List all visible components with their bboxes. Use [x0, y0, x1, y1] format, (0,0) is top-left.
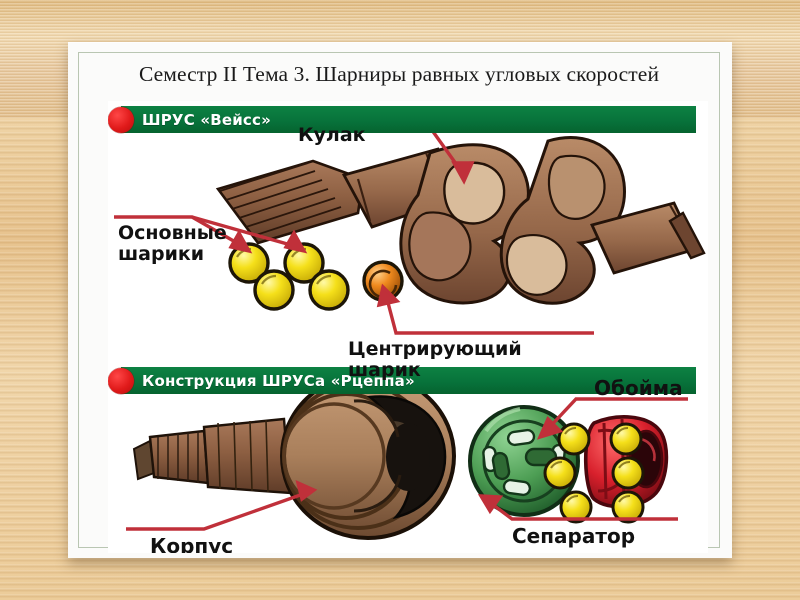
red-circle-icon [108, 368, 134, 394]
diagram-image-area: ШРУС «Вейсс» Конструкция ШРУСа «Рцеппа» … [108, 101, 708, 553]
callout-line: Кулак [298, 125, 366, 146]
callout-line: Обойма [594, 377, 683, 399]
callout-label-main-balls: Основные шарики [118, 223, 227, 266]
slide-stage: Семестр II Тема 3. Шарниры равных угловы… [0, 0, 800, 600]
callout-line: Центрирующий [348, 339, 522, 360]
section-banner-weiss-label: ШРУС «Вейсс» [142, 111, 271, 129]
callout-line: Корпус [150, 535, 233, 553]
callout-label-housing: Корпус [150, 535, 233, 553]
callout-label-center-ball: Центрирующий шарик [348, 339, 522, 382]
section-banner-weiss: ШРУС «Вейсс» [121, 106, 696, 133]
cv-joint-artwork [108, 101, 708, 553]
callout-label-kulak: Кулак [298, 125, 366, 146]
callout-line: Основные [118, 223, 227, 244]
page-title: Семестр II Тема 3. Шарниры равных угловы… [78, 62, 720, 87]
callout-line: шарик [348, 360, 522, 381]
callout-line: Сепаратор [512, 525, 635, 547]
callout-line: шарики [118, 244, 227, 265]
red-circle-icon [108, 107, 134, 133]
callout-label-inner-race: Обойма [594, 377, 683, 399]
callout-label-cage: Сепаратор [512, 525, 635, 547]
